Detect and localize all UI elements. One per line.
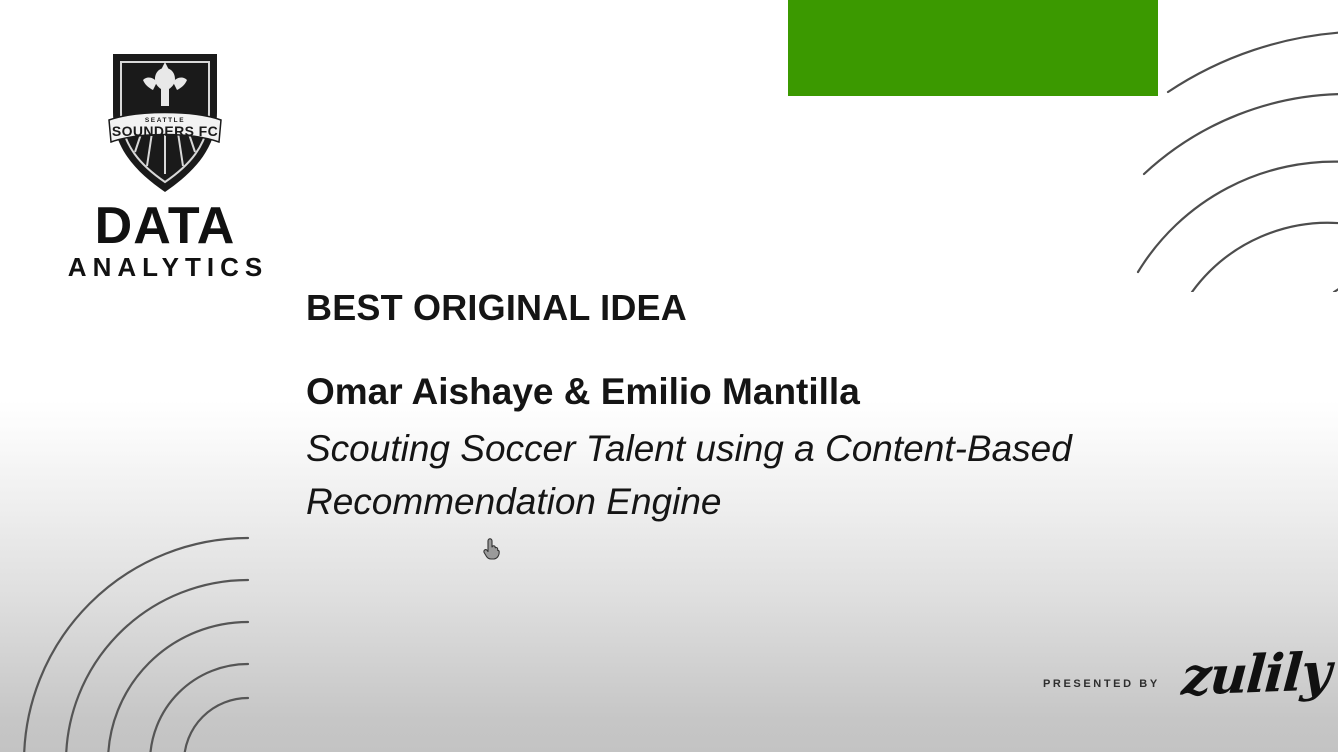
logo-wordmark-secondary: ANALYTICS [57,253,273,281]
logo-wordmark-primary: DATA [57,200,273,252]
zulily-wordmark: zulily [1180,645,1332,704]
hand-pointer-cursor [482,538,502,560]
sounders-data-analytics-logo: SEATTLE SOUNDERS FC DATA ANALYTICS [57,22,273,330]
concentric-arcs-icon [0,502,318,752]
sounders-crest-icon: SEATTLE SOUNDERS FC [103,46,227,194]
sponsor-lockup: PRESENTED BY zulily [1043,648,1330,702]
presenter-names: Omar Aishaye & Emilio Mantilla [306,369,860,415]
presented-by-label: PRESENTED BY [1043,660,1160,690]
award-title: BEST ORIGINAL IDEA [306,287,687,329]
crest-main-text: SOUNDERS FC [112,123,218,139]
presentation-slide: SEATTLE SOUNDERS FC DATA ANALYTICS BEST … [0,0,1338,752]
project-title: Scouting Soccer Talent using a Content-B… [306,422,1186,528]
green-accent-block [788,0,1158,96]
